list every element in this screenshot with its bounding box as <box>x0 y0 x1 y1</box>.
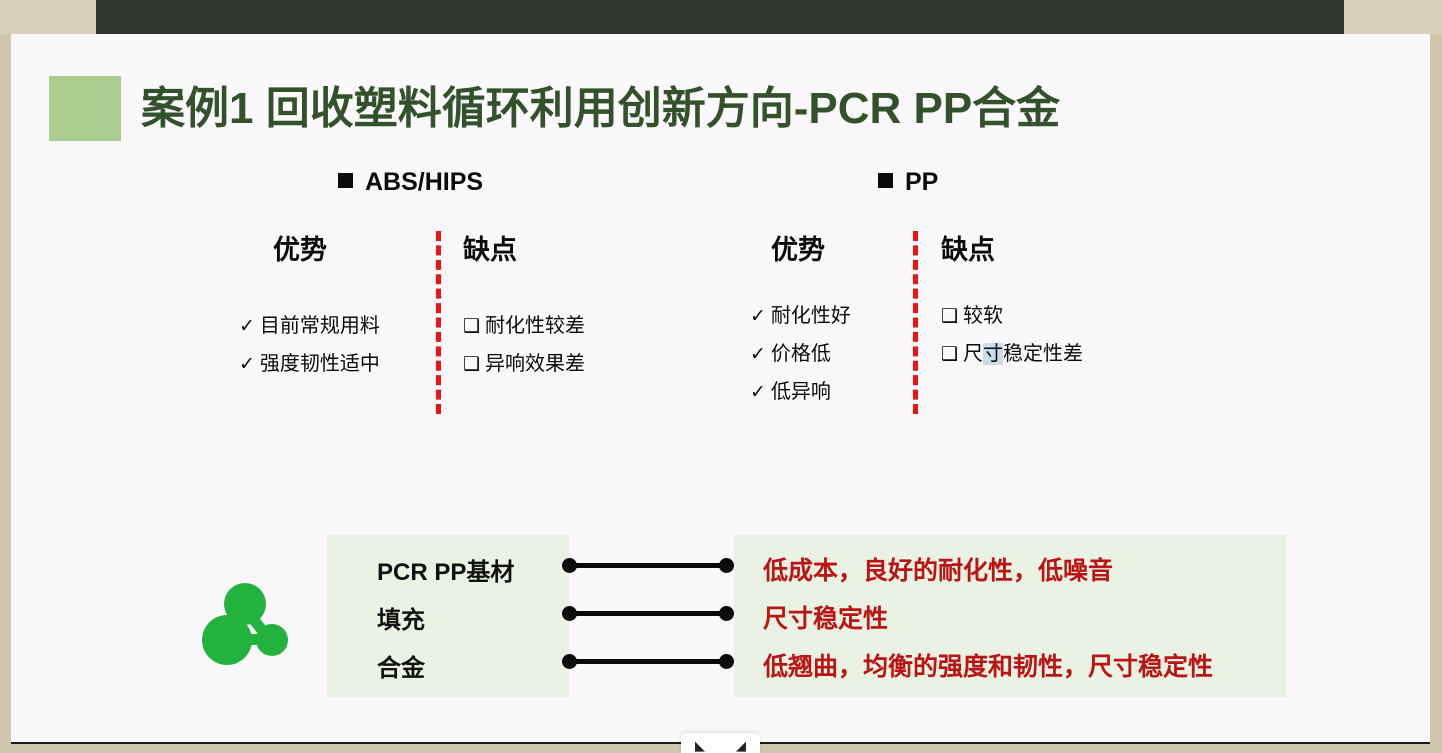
column-title-cons-pp: 缺点 <box>941 228 995 267</box>
bullet-square-icon <box>878 173 893 188</box>
column-title-pros-abs: 优势 <box>273 228 327 267</box>
window-frame-left <box>0 0 96 34</box>
connector-dot-right <box>719 606 734 621</box>
previous-page-icon[interactable]: ◣ <box>695 740 705 753</box>
list-item: ❑尺寸稳定性差 <box>941 337 1083 366</box>
check-icon: ✓ <box>239 353 255 375</box>
solution-label: PCR PP基材 <box>377 552 514 587</box>
list-item: ✓目前常规用料 <box>239 309 380 338</box>
title-accent-chip <box>49 76 121 141</box>
solution-label: 合金 <box>377 648 425 683</box>
empty-square-icon: ❑ <box>941 305 958 327</box>
solution-outcome: 尺寸稳定性 <box>763 599 888 635</box>
window-frame-right <box>1344 0 1442 34</box>
window-titlebar <box>96 0 1344 34</box>
check-icon: ✓ <box>239 315 255 337</box>
comparison-heading-pp: PP <box>878 168 938 197</box>
connector-bar <box>569 611 727 616</box>
divider-pp <box>913 231 918 414</box>
connector-dot-right <box>719 654 734 669</box>
next-page-icon[interactable]: ◢ <box>736 740 746 753</box>
solution-outcome: 低成本，良好的耐化性，低噪音 <box>763 551 1113 587</box>
list-item: ✓价格低 <box>750 337 831 366</box>
selected-character: 寸 <box>983 343 1003 365</box>
page-navigation-popup[interactable]: ◣ ◢ <box>681 733 760 753</box>
connector-bar <box>569 659 727 664</box>
check-icon: ✓ <box>750 305 766 327</box>
connector-line <box>562 557 734 573</box>
check-icon: ✓ <box>750 381 766 403</box>
comparison-heading-abs-hips: ABS/HIPS <box>338 168 483 197</box>
empty-square-icon: ❑ <box>463 353 480 375</box>
slide-canvas: 案例1 回收塑料循环利用创新方向-PCR PP合金 ABS/HIPS 优势 缺点… <box>11 34 1430 742</box>
page-title: 案例1 回收塑料循环利用创新方向-PCR PP合金 <box>141 78 1060 140</box>
connector-line <box>562 653 734 669</box>
check-icon: ✓ <box>750 343 766 365</box>
solution-outcome: 低翘曲，均衡的强度和韧性，尺寸稳定性 <box>763 647 1213 683</box>
molecule-icon <box>197 582 293 674</box>
list-item: ❑耐化性较差 <box>463 309 585 338</box>
empty-square-icon: ❑ <box>463 315 480 337</box>
list-item: ✓低异响 <box>750 375 831 404</box>
bullet-square-icon <box>338 173 353 188</box>
column-title-cons-abs: 缺点 <box>463 228 517 267</box>
list-item: ❑较软 <box>941 299 1003 328</box>
connector-line <box>562 605 734 621</box>
connector-bar <box>569 563 727 568</box>
divider-abs-hips <box>436 231 441 414</box>
empty-square-icon: ❑ <box>941 343 958 365</box>
list-item: ✓耐化性好 <box>750 299 851 328</box>
list-item: ✓强度韧性适中 <box>239 347 380 376</box>
application-window: 案例1 回收塑料循环利用创新方向-PCR PP合金 ABS/HIPS 优势 缺点… <box>0 0 1442 753</box>
connector-dot-right <box>719 558 734 573</box>
column-title-pros-pp: 优势 <box>771 228 825 267</box>
list-item: ❑异响效果差 <box>463 347 585 376</box>
solution-label: 填充 <box>377 600 425 635</box>
